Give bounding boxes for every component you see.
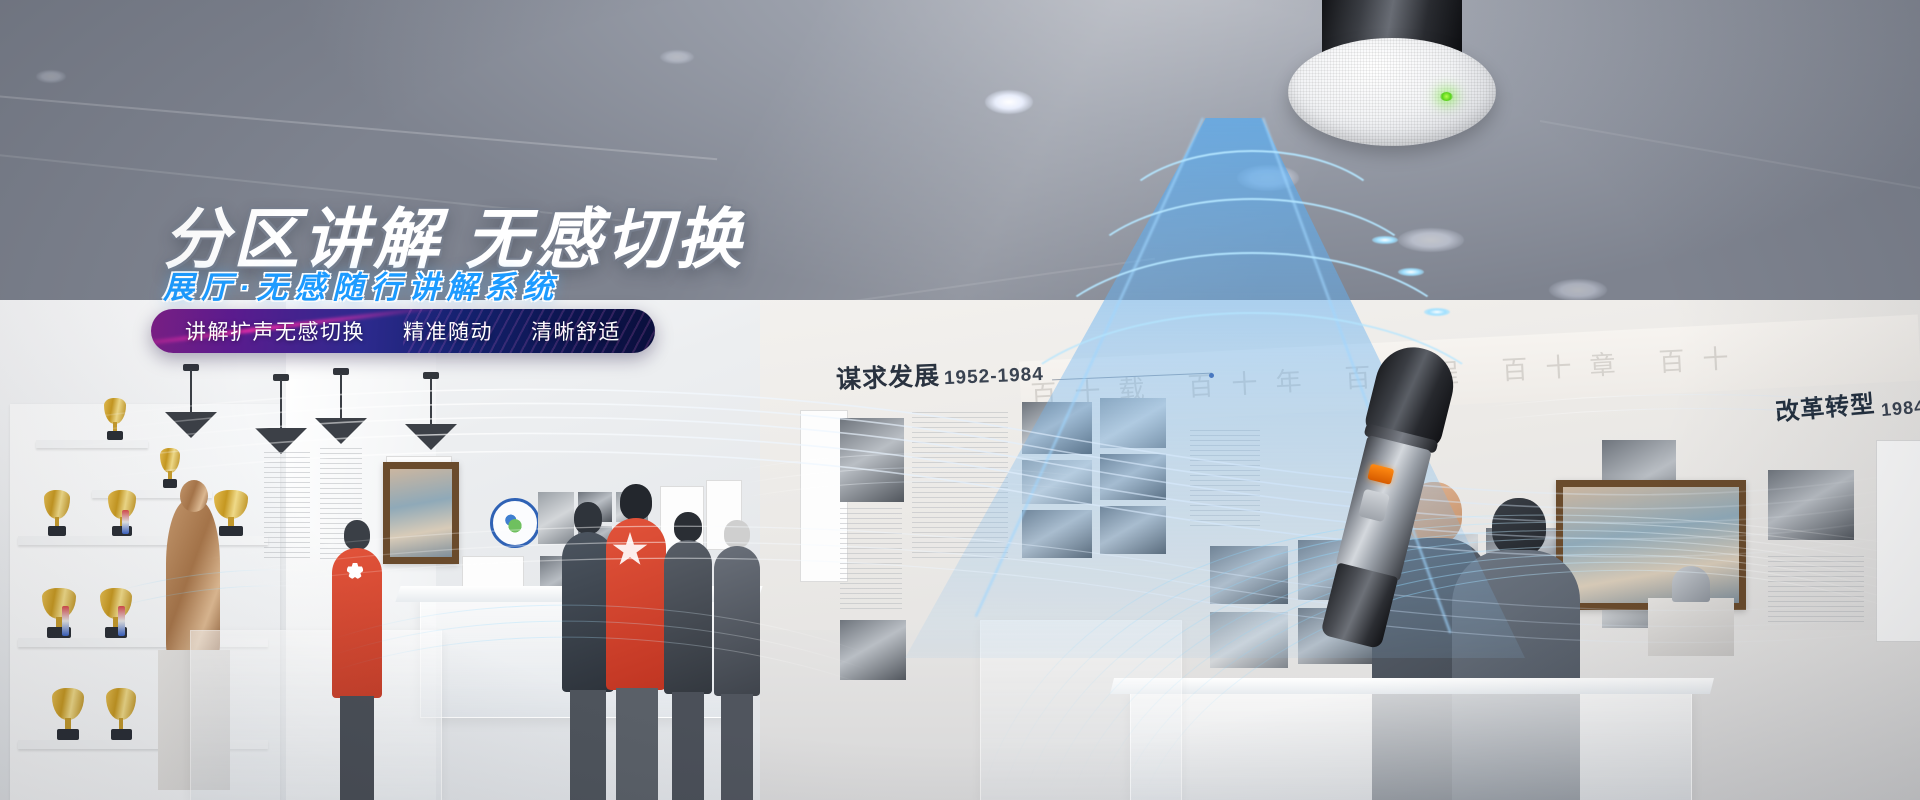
hero-banner: 百十载 百十年 百十程 百十章 百十 xyxy=(0,0,1920,800)
vignette-overlay xyxy=(0,0,1920,800)
